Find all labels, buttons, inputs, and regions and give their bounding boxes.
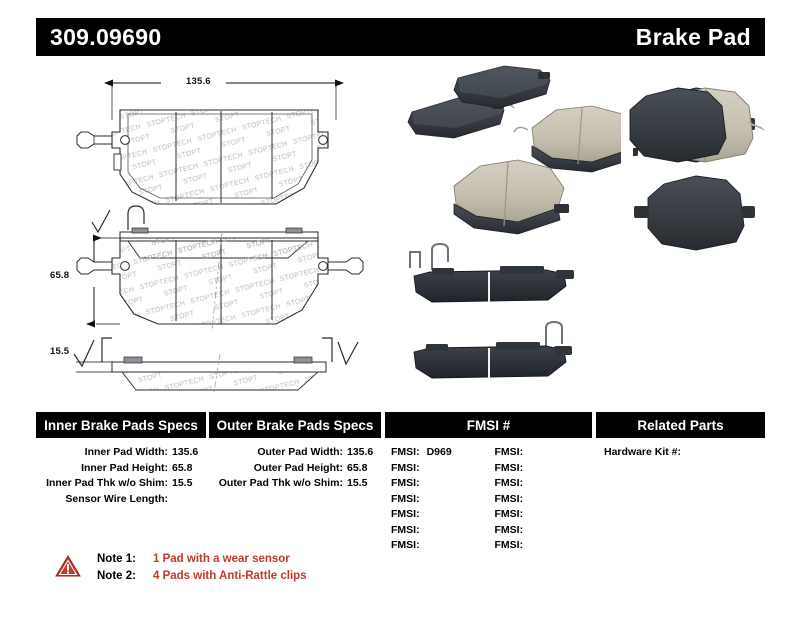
- technical-drawing-panel: STOPTECH STOPTECH: [36, 62, 396, 392]
- fmsi-row: FMSI:: [489, 538, 593, 554]
- header-related-parts: Related Parts: [596, 412, 765, 438]
- photo-edge-view-pair: [410, 244, 574, 378]
- notes-section: Note 1: 1 Pad with a wear sensor Note 2:…: [55, 551, 307, 585]
- fmsi-value: D969: [420, 445, 452, 461]
- hardware-kit-row: Hardware Kit #:: [596, 445, 765, 461]
- pad-plan-view-bottom: [77, 232, 363, 330]
- fmsi-value: [523, 523, 530, 539]
- fmsi-row: FMSI:: [385, 476, 489, 492]
- specifications-table: Inner Brake Pads Specs Outer Brake Pads …: [36, 412, 765, 554]
- fmsi-value: [523, 492, 530, 508]
- spec-row: Inner Pad Thk w/o Shim: 15.5: [36, 476, 206, 492]
- spec-row: Sensor Wire Length:: [36, 492, 206, 508]
- header-inner-specs: Inner Brake Pads Specs: [36, 412, 206, 438]
- thickness-dimension-label: 15.5: [50, 346, 69, 357]
- table-body: Inner Pad Width: 135.6 Inner Pad Height:…: [36, 438, 765, 554]
- fmsi-label: FMSI:: [489, 445, 524, 461]
- fmsi-label: FMSI:: [489, 523, 524, 539]
- fmsi-label: FMSI:: [489, 538, 524, 554]
- fmsi-value: [420, 492, 427, 508]
- fmsi-row: FMSI:: [489, 523, 593, 539]
- fmsi-value: [420, 523, 427, 539]
- fmsi-value: [523, 461, 530, 477]
- spec-value: 15.5: [343, 476, 381, 492]
- header-bar: 309.09690 Brake Pad: [36, 18, 765, 56]
- spec-label: Sensor Wire Length:: [65, 492, 168, 508]
- fmsi-label: FMSI:: [489, 461, 524, 477]
- fmsi-label: FMSI:: [385, 461, 420, 477]
- fmsi-column: FMSI: D969 FMSI: FMSI: FMSI:: [385, 445, 592, 554]
- spec-row: Inner Pad Height: 65.8: [36, 461, 206, 477]
- spec-label: Outer Pad Thk w/o Shim:: [219, 476, 343, 492]
- fmsi-label: FMSI:: [489, 492, 524, 508]
- fmsi-value: [420, 476, 427, 492]
- fmsi-label: FMSI:: [385, 538, 420, 554]
- spec-label: Outer Pad Height:: [254, 461, 343, 477]
- fmsi-row: FMSI:: [489, 507, 593, 523]
- fmsi-value: [420, 538, 427, 554]
- fmsi-row: FMSI: D969: [385, 445, 489, 461]
- page-title: Brake Pad: [636, 24, 751, 51]
- product-photo-panel: [396, 62, 765, 392]
- height-dimension-label: 65.8: [50, 270, 69, 281]
- fmsi-row: FMSI:: [385, 523, 489, 539]
- spec-label: Inner Pad Width:: [85, 445, 168, 461]
- part-number: 309.09690: [50, 24, 161, 51]
- warning-triangle-icon: [55, 554, 81, 578]
- spec-label: Inner Pad Thk w/o Shim:: [46, 476, 168, 492]
- fmsi-row: FMSI:: [489, 445, 593, 461]
- fmsi-subcolumn-left: FMSI: D969 FMSI: FMSI: FMSI:: [385, 445, 489, 554]
- spec-label: Outer Pad Width:: [257, 445, 343, 461]
- fmsi-label: FMSI:: [489, 476, 524, 492]
- fmsi-label: FMSI:: [385, 492, 420, 508]
- related-parts-column: Hardware Kit #:: [596, 445, 765, 554]
- note-row: Note 1: 1 Pad with a wear sensor: [97, 551, 307, 568]
- fmsi-row: FMSI:: [385, 461, 489, 477]
- note-row: Note 2: 4 Pads with Anti-Rattle clips: [97, 568, 307, 585]
- header-outer-specs: Outer Brake Pads Specs: [209, 412, 381, 438]
- fmsi-row: FMSI:: [385, 507, 489, 523]
- fmsi-row: FMSI:: [489, 461, 593, 477]
- spec-row: Inner Pad Width: 135.6: [36, 445, 206, 461]
- spec-row: Outer Pad Width: 135.6: [209, 445, 381, 461]
- fmsi-row: FMSI:: [385, 492, 489, 508]
- outer-specs-column: Outer Pad Width: 135.6 Outer Pad Height:…: [209, 445, 381, 554]
- fmsi-label: FMSI:: [385, 476, 420, 492]
- anti-rattle-clip-icon: [410, 244, 448, 270]
- spec-value: 135.6: [168, 445, 206, 461]
- spec-label: Inner Pad Height:: [81, 461, 168, 477]
- note-text: 4 Pads with Anti-Rattle clips: [147, 568, 307, 585]
- fmsi-value: [523, 538, 530, 554]
- fmsi-row: FMSI:: [489, 492, 593, 508]
- spec-value: 65.8: [168, 461, 206, 477]
- fmsi-label: FMSI:: [385, 445, 420, 461]
- height-dimension: [94, 238, 120, 324]
- spec-row: Outer Pad Height: 65.8: [209, 461, 381, 477]
- note-label: Note 2:: [97, 568, 147, 585]
- note-text: 1 Pad with a wear sensor: [147, 551, 290, 568]
- fmsi-value: [523, 507, 530, 523]
- fmsi-value: [420, 461, 427, 477]
- spec-row: Outer Pad Thk w/o Shim: 15.5: [209, 476, 381, 492]
- spec-sheet: 309.09690 Brake Pad STOPTECH STOPTECH: [0, 0, 800, 619]
- pad-plan-view-top: [77, 110, 328, 204]
- fmsi-label: FMSI:: [385, 507, 420, 523]
- header-fmsi: FMSI #: [385, 412, 592, 438]
- fmsi-label: FMSI:: [489, 507, 524, 523]
- pad-edge-view-thickness: [76, 354, 326, 392]
- notes-lines: Note 1: 1 Pad with a wear sensor Note 2:…: [97, 551, 307, 585]
- brake-pad-blueprint: STOPTECH STOPTECH: [36, 62, 396, 392]
- spec-value: 15.5: [168, 476, 206, 492]
- fmsi-subcolumn-right: FMSI: FMSI: FMSI: FMSI:: [489, 445, 593, 554]
- spec-value: [168, 492, 206, 508]
- note-label: Note 1:: [97, 551, 147, 568]
- width-dimension-label: 135.6: [186, 76, 211, 87]
- fmsi-label: FMSI:: [385, 523, 420, 539]
- product-photographs: [396, 62, 765, 392]
- inner-specs-column: Inner Pad Width: 135.6 Inner Pad Height:…: [36, 445, 206, 554]
- spec-value: 135.6: [343, 445, 381, 461]
- fmsi-row: FMSI:: [489, 476, 593, 492]
- fmsi-value: [523, 476, 530, 492]
- table-header-row: Inner Brake Pads Specs Outer Brake Pads …: [36, 412, 765, 438]
- fmsi-row: FMSI:: [385, 538, 489, 554]
- spec-value: 65.8: [343, 461, 381, 477]
- photo-angled-pad-group: [408, 66, 638, 234]
- fmsi-value: [420, 507, 427, 523]
- fmsi-value: [523, 445, 530, 461]
